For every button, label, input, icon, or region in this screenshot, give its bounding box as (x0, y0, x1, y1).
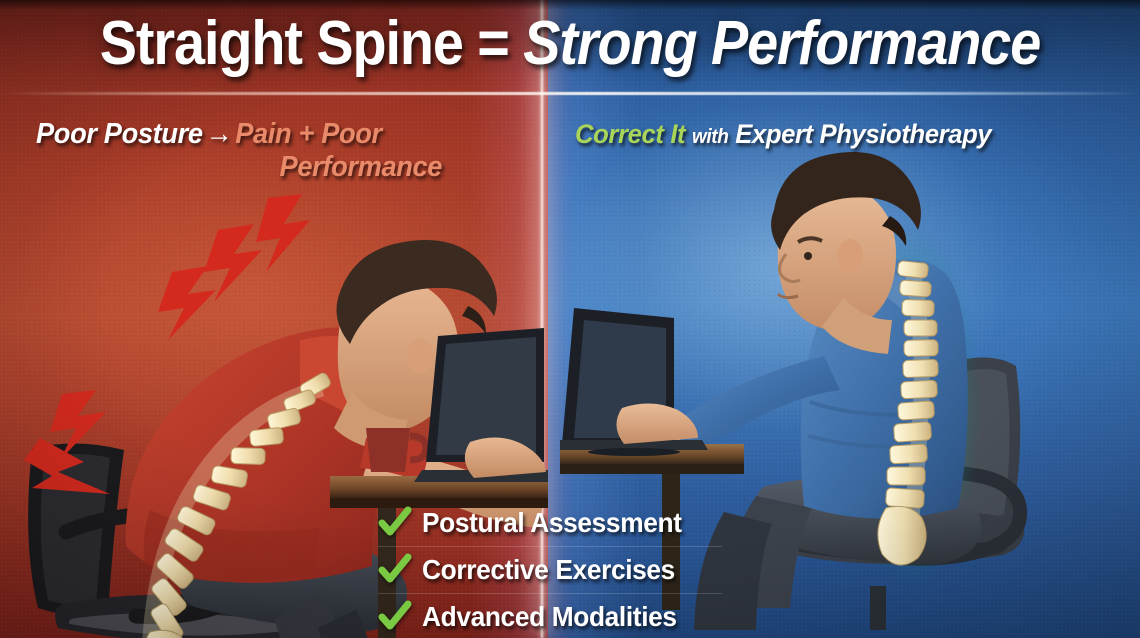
title-emphasis-text: Strong Performance (523, 9, 1040, 78)
check-icon (378, 553, 412, 587)
right-subtitle-green-text: Correct It (575, 119, 685, 149)
list-item[interactable]: Advanced Modalities (378, 594, 722, 638)
list-item-label: Postural Assessment (422, 507, 682, 539)
right-subtitle-small-text: with (692, 126, 728, 148)
right-panel-subtitle: Correct It with Expert Physiotherapy (575, 118, 1093, 153)
left-subtitle-accent-line2: Performance (36, 151, 478, 184)
infographic-poster: Straight Spine = Strong Performance Poor… (0, 0, 1140, 638)
list-item-label: Advanced Modalities (422, 601, 677, 633)
title-main-text: Straight Spine = (100, 9, 523, 78)
right-subtitle-white-text: Expert Physiotherapy (735, 119, 991, 149)
list-item[interactable]: Corrective Exercises (378, 547, 722, 594)
list-item-label: Corrective Exercises (422, 554, 675, 586)
left-subtitle-accent-line1: Pain + Poor (235, 118, 382, 150)
header-rule-divider (0, 92, 1140, 95)
check-icon (378, 506, 412, 540)
list-item[interactable]: Postural Assessment (378, 500, 722, 547)
left-panel-subtitle: Poor Posture→Pain + Poor Performance (36, 118, 478, 184)
pain-bolt-icon-group-upper (158, 194, 310, 340)
arrow-icon: → (203, 118, 236, 150)
page-title: Straight Spine = Strong Performance (57, 6, 1083, 82)
left-subtitle-white-text: Poor Posture (36, 118, 203, 150)
services-checklist: Postural Assessment Corrective Exercises… (378, 500, 722, 638)
check-icon (378, 600, 412, 634)
right-hand (616, 403, 698, 444)
